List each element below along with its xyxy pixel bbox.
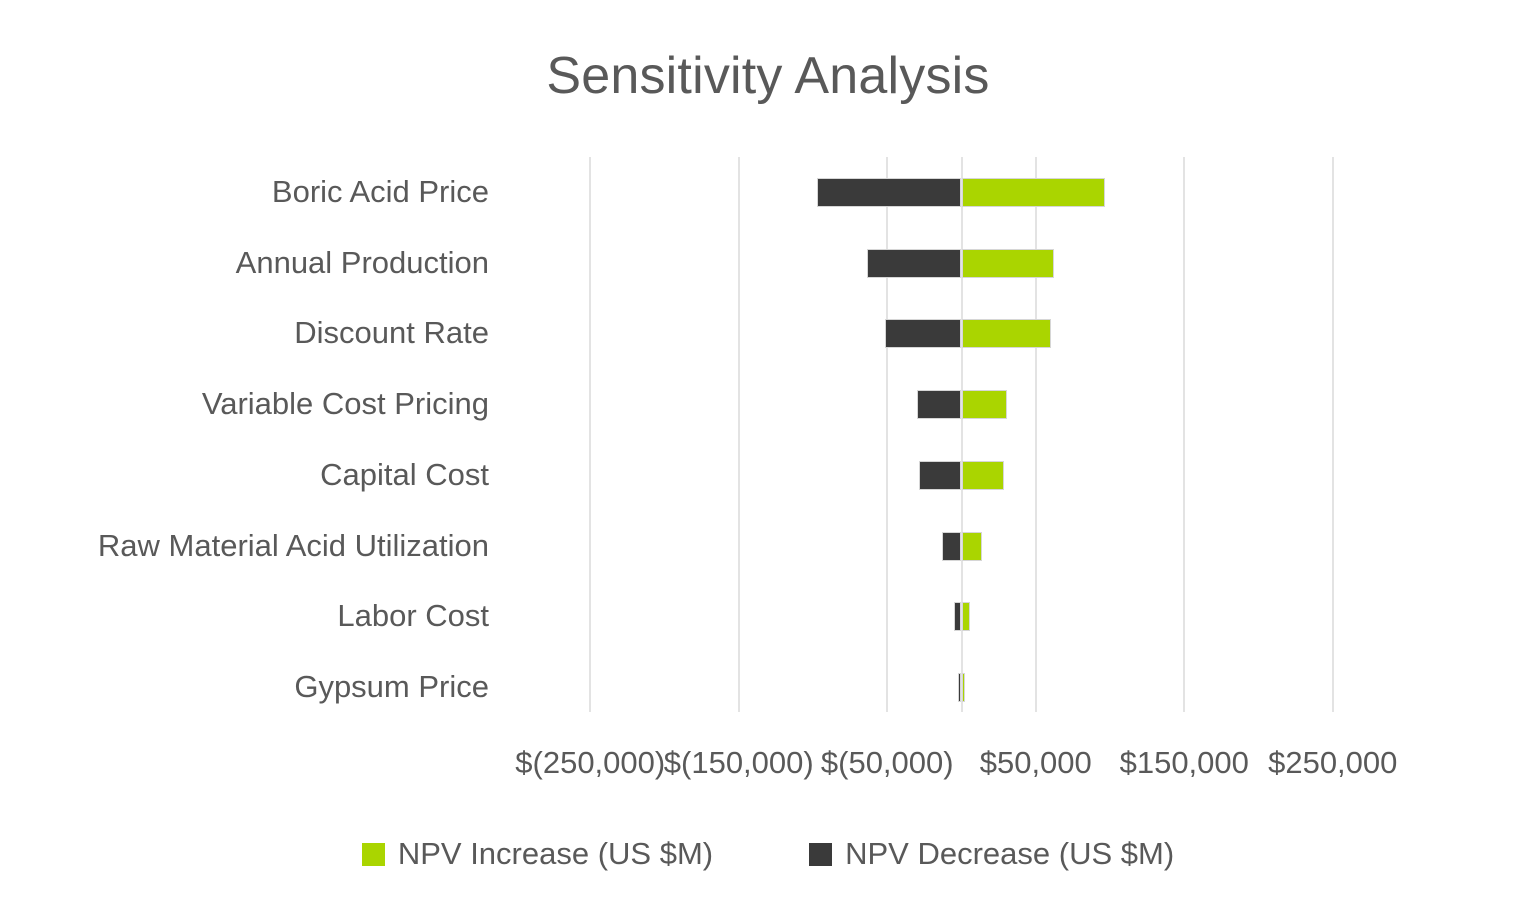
y-axis-label-labor-cost: Labor Cost xyxy=(0,598,489,634)
bar-row xyxy=(516,440,1407,511)
bar-npv-decrease[interactable] xyxy=(867,249,961,278)
legend-item[interactable]: NPV Increase (US $M) xyxy=(362,836,713,872)
plot-area xyxy=(516,157,1407,712)
legend-swatch-increase-icon xyxy=(362,843,385,866)
bar-npv-increase[interactable] xyxy=(962,178,1105,207)
legend-item[interactable]: NPV Decrease (US $M) xyxy=(809,836,1174,872)
bar-npv-decrease[interactable] xyxy=(885,319,961,348)
y-axis-label-annual-production: Annual Production xyxy=(0,245,489,281)
bar-npv-increase[interactable] xyxy=(962,249,1055,278)
bar-npv-decrease[interactable] xyxy=(917,390,962,419)
bar-row xyxy=(516,652,1407,723)
x-axis-tick-label: $50,000 xyxy=(980,745,1092,781)
sensitivity-analysis-chart: Sensitivity Analysis Boric Acid PriceAnn… xyxy=(0,0,1536,922)
legend-label: NPV Increase (US $M) xyxy=(398,836,713,872)
bar-npv-decrease[interactable] xyxy=(817,178,962,207)
chart-title: Sensitivity Analysis xyxy=(0,46,1536,106)
y-axis-label-variable-cost-pricing: Variable Cost Pricing xyxy=(0,386,489,422)
legend-swatch-decrease-icon xyxy=(809,843,832,866)
bar-npv-increase[interactable] xyxy=(962,602,970,631)
y-axis-label-capital-cost: Capital Cost xyxy=(0,457,489,493)
x-axis-tick-label: $250,000 xyxy=(1268,745,1397,781)
bar-npv-increase[interactable] xyxy=(962,319,1051,348)
bar-npv-decrease[interactable] xyxy=(942,532,962,561)
bar-npv-increase[interactable] xyxy=(962,673,966,702)
legend-label: NPV Decrease (US $M) xyxy=(845,836,1174,872)
bar-row xyxy=(516,228,1407,299)
bar-npv-decrease[interactable] xyxy=(954,602,962,631)
bar-row xyxy=(516,511,1407,582)
chart-legend: NPV Increase (US $M)NPV Decrease (US $M) xyxy=(0,836,1536,872)
bar-row xyxy=(516,157,1407,228)
bar-npv-increase[interactable] xyxy=(962,532,982,561)
x-axis-tick-label: $(50,000) xyxy=(821,745,954,781)
x-axis-tick-label: $150,000 xyxy=(1120,745,1249,781)
x-axis-tick-label: $(150,000) xyxy=(664,745,814,781)
bar-npv-decrease[interactable] xyxy=(919,461,962,490)
bar-row xyxy=(516,369,1407,440)
x-axis-tick-label: $(250,000) xyxy=(515,745,665,781)
bar-row xyxy=(516,581,1407,652)
y-axis-label-boric-acid-price: Boric Acid Price xyxy=(0,174,489,210)
bar-npv-increase[interactable] xyxy=(962,390,1007,419)
bar-row xyxy=(516,298,1407,369)
y-axis-label-discount-rate: Discount Rate xyxy=(0,315,489,351)
bar-npv-increase[interactable] xyxy=(962,461,1005,490)
y-axis-label-gypsum-price: Gypsum Price xyxy=(0,669,489,705)
y-axis-label-raw-material-acid-utilization: Raw Material Acid Utilization xyxy=(0,528,489,564)
